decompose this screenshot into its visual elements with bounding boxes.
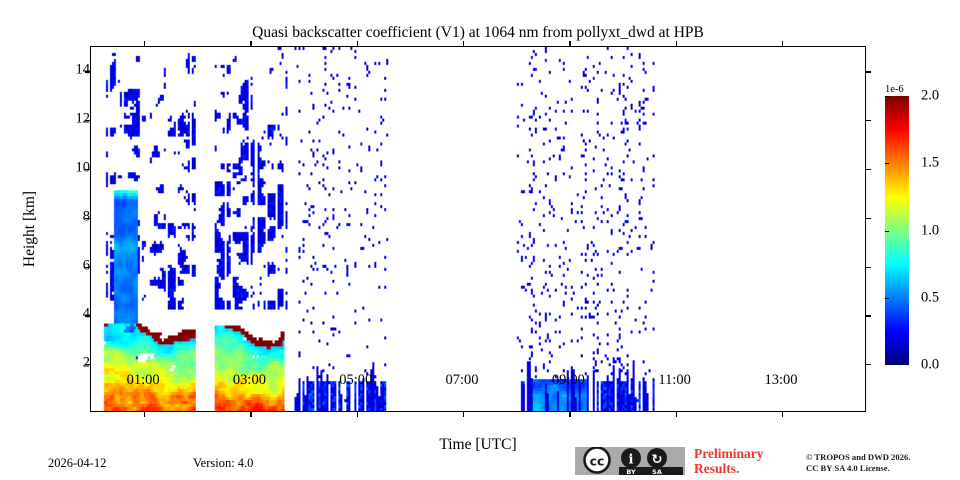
- y-axis-tick-label: 6: [83, 257, 90, 274]
- y-axis-tick-label: 8: [83, 208, 90, 225]
- x-axis-tick: [463, 41, 464, 47]
- x-axis-tick: [569, 41, 570, 47]
- y-axis-tick-label: 2: [83, 355, 90, 372]
- y-axis-tick: [865, 71, 871, 72]
- y-axis-tick: [865, 120, 871, 121]
- x-axis-tick: [250, 41, 251, 47]
- copyright-line-2: CC BY SA 4.0 License.: [806, 463, 960, 474]
- badge-sa-label: SA: [652, 468, 662, 475]
- x-axis-tick: [357, 41, 358, 47]
- preliminary-line-2: Results.: [694, 462, 790, 477]
- copyright-line-1: © TROPOS and DWD 2026.: [806, 452, 960, 463]
- x-axis-tick: [676, 41, 677, 47]
- footer-version: Version: 4.0: [193, 456, 253, 471]
- svg-text:↻: ↻: [652, 453, 663, 468]
- colorbar: 0.00.51.01.52.0: [885, 96, 909, 365]
- colorbar-tick: [885, 298, 889, 299]
- colorbar-tick: [885, 231, 889, 232]
- y-axis-tick: [865, 169, 871, 170]
- x-axis-tick-label: 09:00: [552, 372, 585, 389]
- colorbar-tick-label: 0.5: [921, 289, 939, 306]
- x-axis-tick-label: 13:00: [764, 372, 797, 389]
- badge-by-label: BY: [626, 468, 636, 475]
- y-axis-tick: [865, 315, 871, 316]
- y-axis-tick-label: 10: [76, 160, 91, 177]
- y-axis-tick-label: 14: [76, 62, 91, 79]
- x-axis-tick: [676, 411, 677, 417]
- y-axis-label: Height [km]: [21, 191, 39, 267]
- x-axis-tick: [250, 411, 251, 417]
- y-axis-tick: [865, 218, 871, 219]
- preliminary-results-notice: Preliminary Results.: [694, 447, 790, 476]
- x-axis-tick-label: 07:00: [446, 372, 479, 389]
- colorbar-tick-label: 1.0: [921, 222, 939, 239]
- colorbar-tick-label: 2.0: [921, 88, 939, 105]
- x-axis-tick: [144, 41, 145, 47]
- x-axis-tick: [463, 411, 464, 417]
- page-title: Quasi backscatter coefficient (V1) at 10…: [90, 24, 866, 42]
- footer-date: 2026-04-12: [48, 456, 106, 471]
- x-axis-tick: [782, 41, 783, 47]
- plot-axes: [90, 46, 866, 412]
- x-axis-tick-label: 03:00: [233, 372, 266, 389]
- x-axis-tick-label: 11:00: [658, 372, 691, 389]
- x-axis-tick-label: 01:00: [127, 372, 160, 389]
- x-axis-tick: [357, 411, 358, 417]
- y-axis-tick-label: 4: [83, 306, 90, 323]
- y-axis-tick: [865, 267, 871, 268]
- creative-commons-badge-icon: cc i ↻ BY SA: [575, 447, 685, 475]
- x-axis-tick-label: 05:00: [339, 372, 372, 389]
- x-axis-tick: [569, 411, 570, 417]
- copyright-notice: © TROPOS and DWD 2026. CC BY SA 4.0 Lice…: [806, 452, 960, 474]
- svg-text:cc: cc: [590, 454, 605, 469]
- heatmap-canvas: [91, 47, 865, 411]
- colorbar-tick: [885, 163, 889, 164]
- x-axis-tick: [144, 411, 145, 417]
- y-axis-tick-label: 12: [76, 111, 91, 128]
- colorbar-tick: [885, 96, 889, 97]
- svg-text:i: i: [629, 453, 634, 468]
- colorbar-offset-text: 1e-6: [885, 84, 904, 95]
- colorbar-tick: [885, 364, 889, 365]
- x-axis-tick: [782, 411, 783, 417]
- lidar-quicklook-figure: Quasi backscatter coefficient (V1) at 10…: [0, 0, 960, 480]
- y-axis-tick: [865, 364, 871, 365]
- colorbar-tick-label: 1.5: [921, 155, 939, 172]
- colorbar-tick-label: 0.0: [921, 357, 939, 374]
- preliminary-line-1: Preliminary: [694, 447, 790, 462]
